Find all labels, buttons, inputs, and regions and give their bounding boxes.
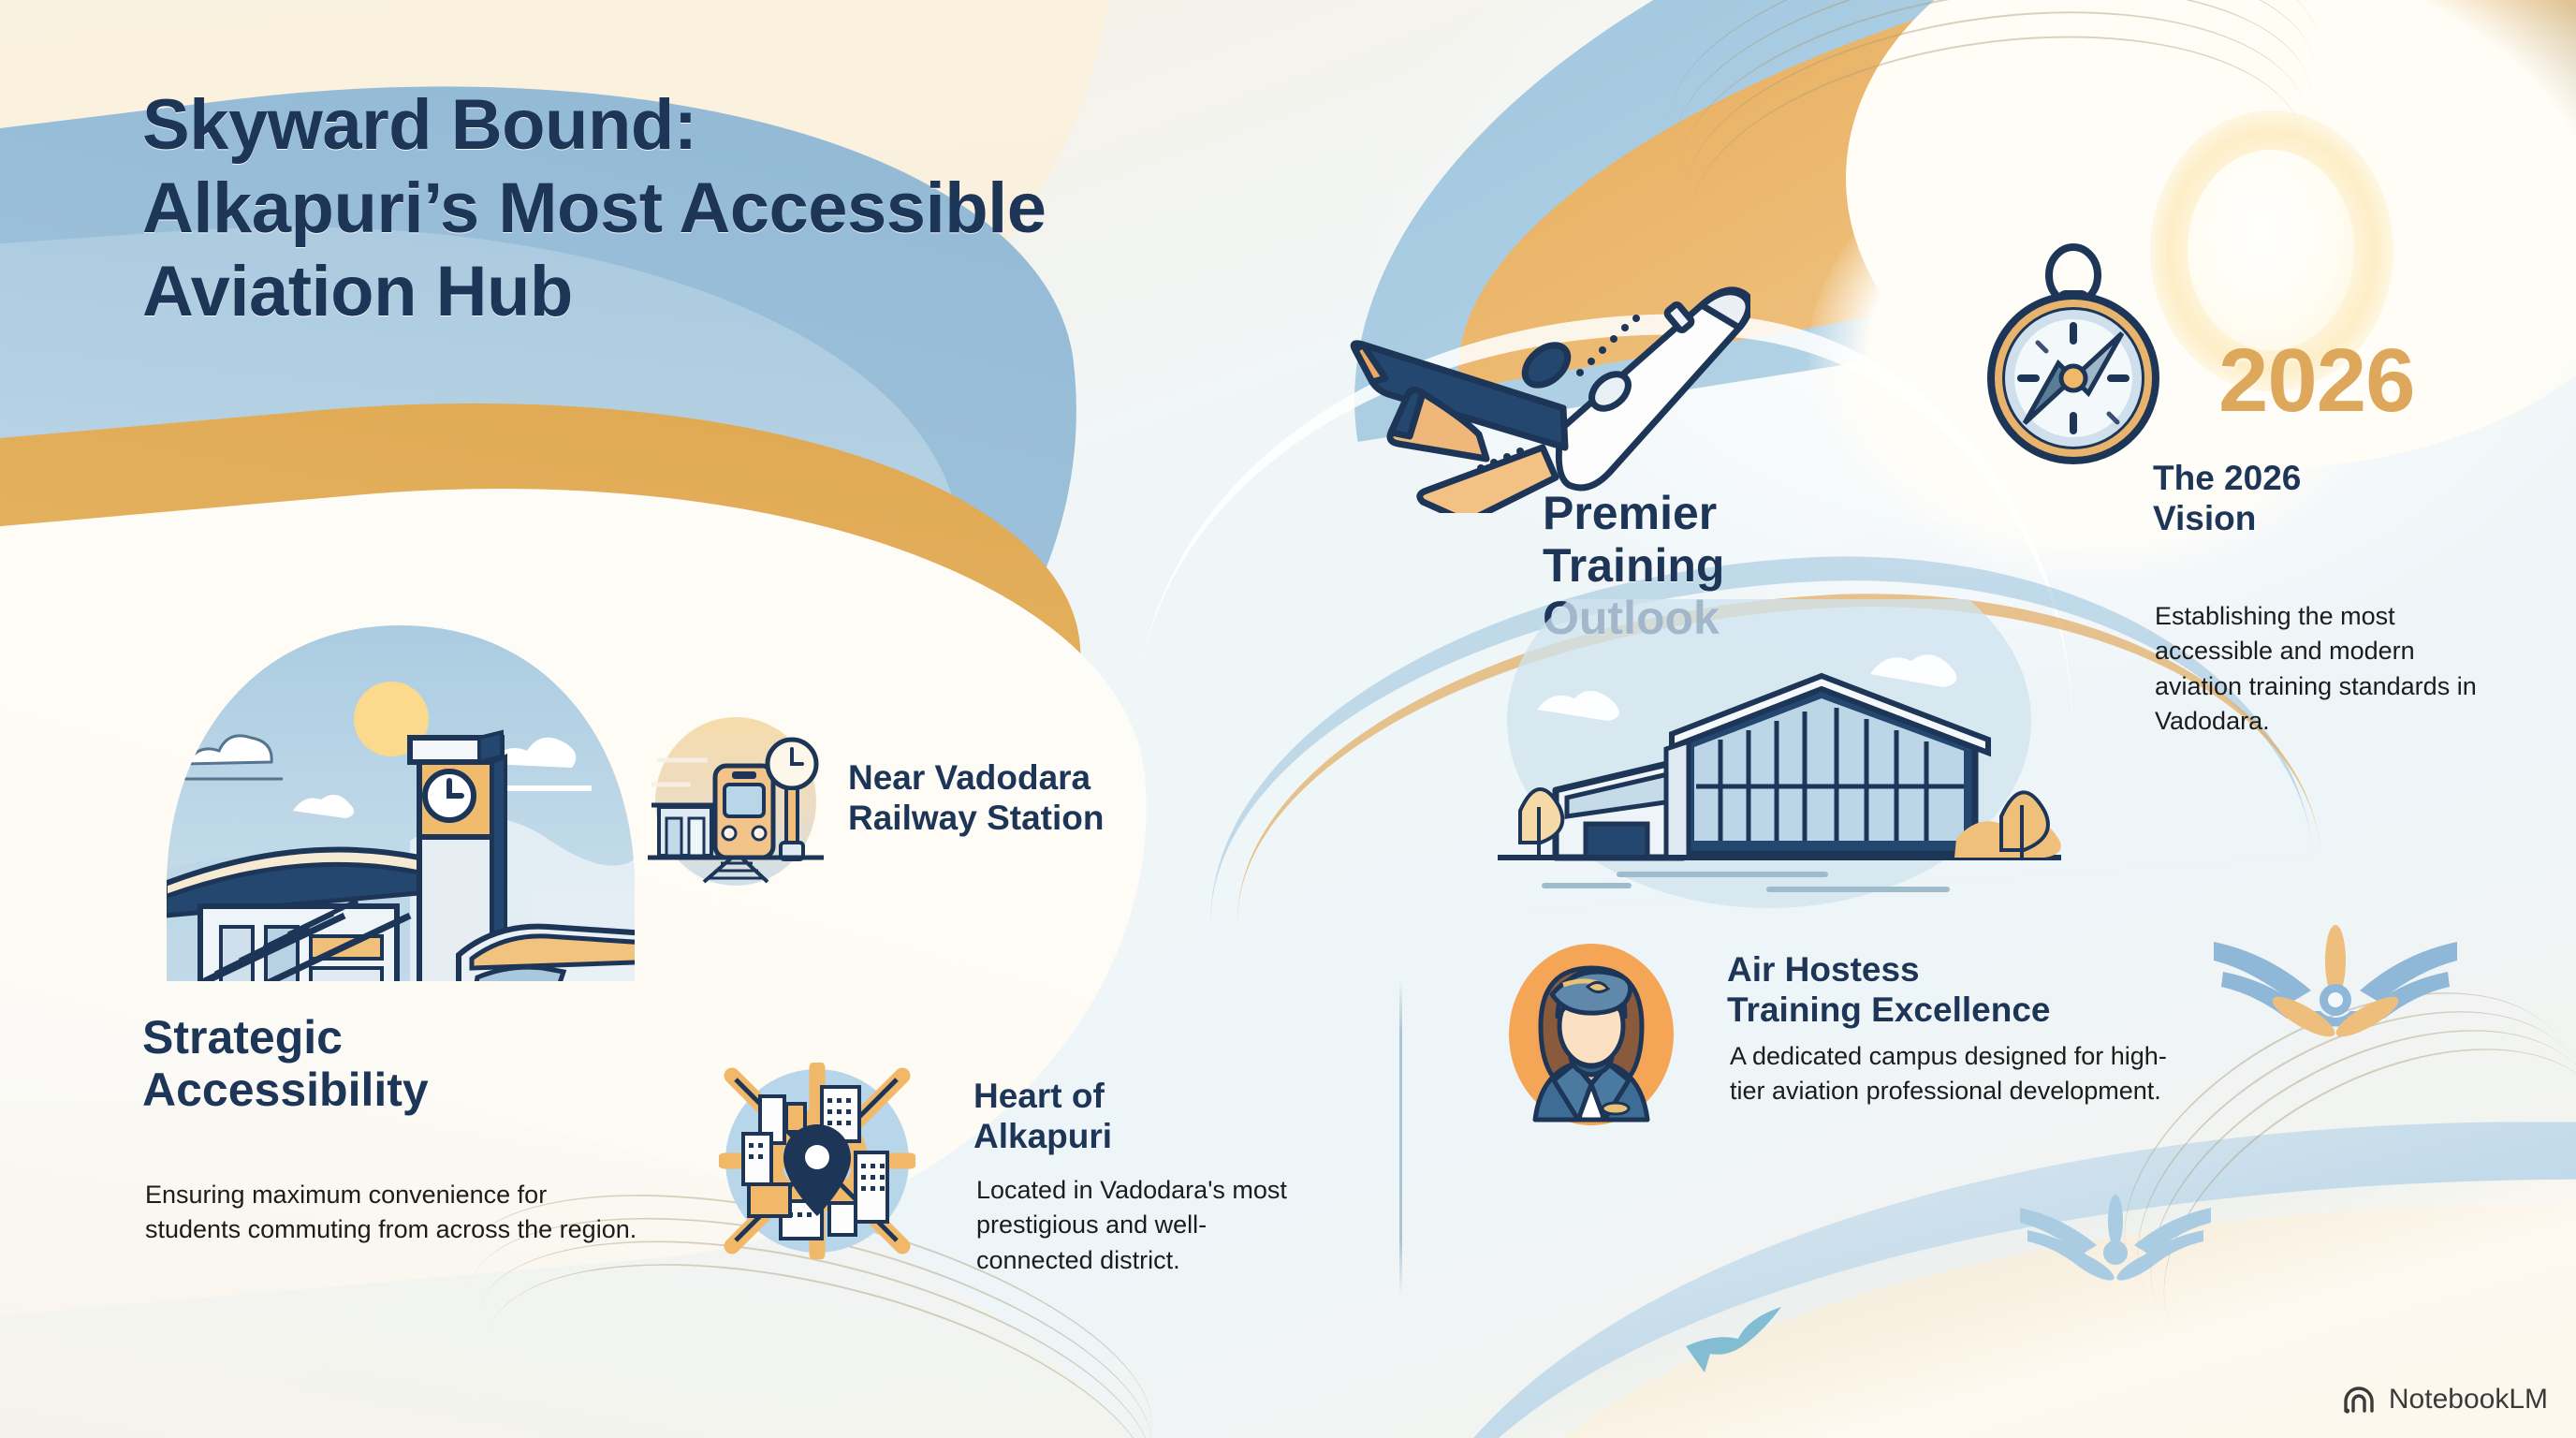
watermark-label: NotebookLM (2389, 1384, 2548, 1416)
vertical-divider (1399, 978, 1402, 1295)
infographic-canvas: Skyward Bound: Alkapuri’s Most Accessibl… (0, 0, 2576, 1438)
air-hostess-body: A dedicated campus designed for high-tie… (1730, 1039, 2188, 1109)
air-hostess-heading-line-1: Air Hostess (1727, 950, 2214, 990)
compass-icon (1961, 236, 2186, 470)
premier-heading-line-1: Premier (1543, 487, 1851, 539)
winged-propeller-icon-upper (2204, 917, 2466, 1067)
near-railway-heading-line-1: Near Vadodara (848, 758, 1241, 799)
vision-heading-line-2: Vision (2153, 499, 2462, 539)
airplane-illustration (1329, 251, 1750, 513)
title-line-2: Alkapuri’s Most Accessible (142, 168, 1340, 251)
near-railway-heading-line-2: Railway Station (848, 799, 1241, 839)
title-line-1: Skyward Bound: (142, 84, 1340, 168)
vision-heading-line-1: The 2026 (2153, 459, 2462, 499)
heart-heading-line-1: Heart of (973, 1077, 1348, 1117)
vision-2026-body: Establishing the most accessible and mod… (2155, 599, 2492, 739)
city-map-badge-icon (719, 1063, 915, 1259)
near-railway-station-heading: Near Vadodara Railway Station (848, 758, 1241, 838)
watermark: NotebookLM (2342, 1384, 2548, 1416)
strategic-accessibility-heading: Strategic Accessibility (142, 1011, 666, 1116)
sun-core-icon (2188, 150, 2354, 350)
premier-heading-line-2: Training (1543, 539, 1851, 592)
heart-of-alkapuri-body: Located in Vadodara's most prestigious a… (976, 1173, 1323, 1278)
air-hostess-heading-line-2: Training Excellence (1727, 990, 2214, 1031)
title-line-3: Aviation Hub (142, 251, 1340, 334)
flying-bird-icon (1680, 1301, 1802, 1376)
air-hostess-avatar-icon (1498, 936, 1685, 1133)
page-title: Skyward Bound: Alkapuri’s Most Accessibl… (142, 84, 1340, 334)
strategic-heading-line-1: Strategic (142, 1011, 666, 1064)
train-station-badge-icon (635, 712, 841, 889)
railway-station-illustration (110, 607, 691, 1000)
strategic-heading-line-2: Accessibility (142, 1064, 666, 1116)
air-hostess-heading: Air Hostess Training Excellence (1727, 950, 2214, 1030)
winged-propeller-icon-lower (2012, 1189, 2218, 1301)
training-campus-building-illustration (1488, 599, 2069, 917)
heart-heading-line-2: Alkapuri (973, 1117, 1348, 1157)
heart-of-alkapuri-heading: Heart of Alkapuri (973, 1077, 1348, 1156)
notebooklm-arc-icon (2342, 1385, 2378, 1415)
vision-year-label: 2026 (2218, 330, 2415, 433)
strategic-accessibility-body: Ensuring maximum convenience for student… (145, 1178, 641, 1248)
vision-2026-heading: The 2026 Vision (2153, 459, 2462, 538)
